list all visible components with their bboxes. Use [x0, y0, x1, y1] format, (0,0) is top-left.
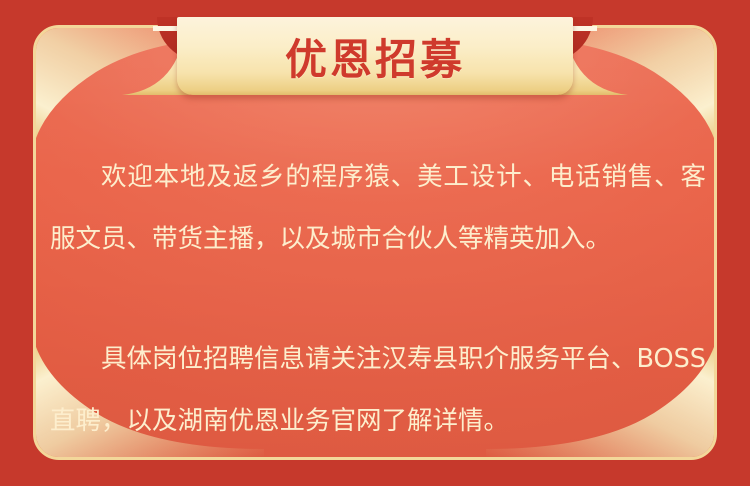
- gold-corner-swoosh-icon-top-right: [486, 26, 716, 146]
- poster-card: 欢迎本地及返乡的程序猿、美工设计、电话销售、客服文员、带货主播，以及城市合伙人等…: [33, 25, 717, 460]
- paragraph-details: 具体岗位招聘信息请关注汉寿县职介服务平台、BOSS直聘，以及湖南优恩业务官网了解…: [50, 328, 706, 452]
- recruitment-poster: 欢迎本地及返乡的程序猿、美工设计、电话销售、客服文员、带货主播，以及城市合伙人等…: [0, 0, 750, 486]
- gold-corner-swoosh-icon-top-left: [34, 26, 264, 146]
- body-copy: 欢迎本地及返乡的程序猿、美工设计、电话销售、客服文员、带货主播，以及城市合伙人等…: [36, 146, 717, 452]
- paragraph-welcome: 欢迎本地及返乡的程序猿、美工设计、电话销售、客服文员、带货主播，以及城市合伙人等…: [50, 146, 706, 270]
